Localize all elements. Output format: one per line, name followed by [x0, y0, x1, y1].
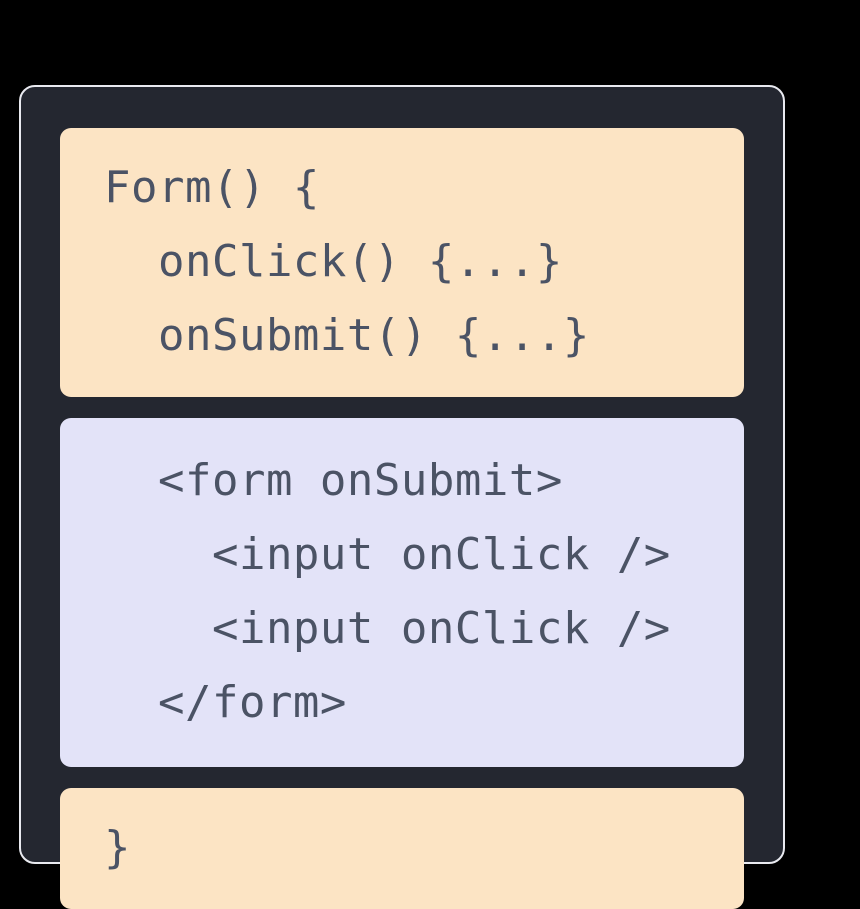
code-line: <form onSubmit>: [60, 444, 744, 518]
code-segment-component-tail: }: [60, 788, 744, 909]
code-line: <input onClick />: [60, 518, 744, 592]
code-line: <input onClick />: [60, 592, 744, 666]
code-segment-component-head: Form() { onClick() {...} onSubmit() {...…: [60, 128, 744, 397]
code-segment-markup-body: <form onSubmit> <input onClick /> <input…: [60, 418, 744, 767]
code-line: </form>: [60, 666, 744, 740]
code-line: Form() {: [60, 151, 744, 225]
code-card: Form() { onClick() {...} onSubmit() {...…: [19, 85, 785, 864]
code-line: onClick() {...}: [60, 225, 744, 299]
code-line: onSubmit() {...}: [60, 299, 744, 373]
screenshot-stage: Form() { onClick() {...} onSubmit() {...…: [0, 0, 860, 874]
